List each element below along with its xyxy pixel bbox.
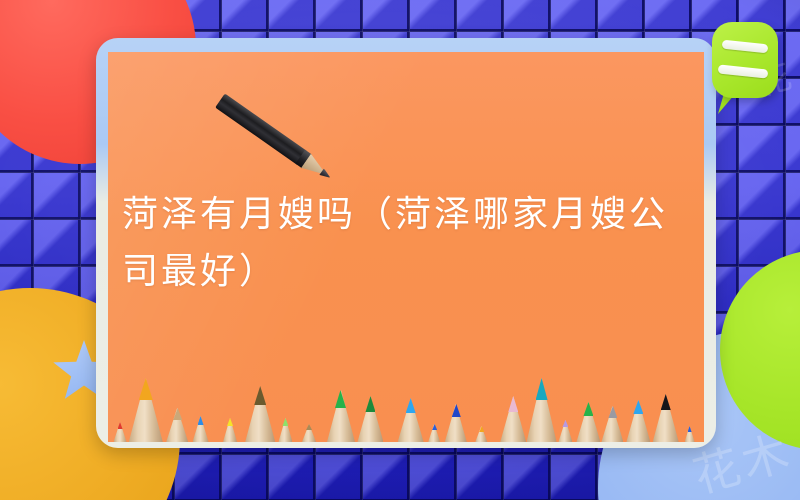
colored-pencil [357, 396, 383, 442]
colored-pencil [601, 406, 623, 442]
colored-pencil [428, 424, 440, 442]
pencil-colored-lead [536, 378, 548, 400]
screenshot-canvas: 花 花木 菏泽有月嫂吗（菏泽哪家月嫂公司最好） [0, 0, 800, 500]
colored-pencil [302, 424, 316, 442]
colored-pencil [558, 420, 572, 442]
colored-pencil-row [108, 368, 704, 442]
pencil-colored-lead [118, 422, 123, 429]
pencil-colored-lead [608, 406, 617, 418]
colored-pencil [527, 378, 557, 442]
colored-pencil [166, 408, 188, 442]
pencil-colored-lead [198, 416, 204, 425]
speech-bubble-icon [712, 22, 778, 98]
pencil-colored-lead [282, 418, 288, 426]
pencil-colored-lead [306, 424, 312, 430]
pencil-colored-lead [173, 408, 182, 420]
pencil-colored-lead [661, 394, 671, 410]
pencil-colored-lead [452, 404, 461, 417]
colored-pencil [685, 426, 695, 442]
pencil-colored-lead [406, 398, 416, 413]
pencil-colored-lead [688, 426, 692, 432]
colored-pencil [223, 418, 237, 442]
pencil-colored-lead [227, 418, 233, 426]
colored-pencil [626, 400, 650, 442]
colored-pencil [327, 390, 355, 442]
pencil-colored-lead [508, 396, 518, 412]
colored-pencil [576, 402, 600, 442]
colored-pencil [278, 418, 292, 442]
page-title: 菏泽有月嫂吗（菏泽哪家月嫂公司最好） [122, 186, 702, 300]
colored-pencil [475, 426, 487, 442]
colored-pencil [398, 398, 424, 442]
pencil-colored-lead [583, 402, 593, 416]
colored-pencil [500, 396, 526, 442]
colored-pencil [129, 378, 163, 442]
colored-pencil [445, 404, 467, 442]
pencil-colored-lead [633, 400, 643, 414]
pencil-colored-lead [254, 386, 266, 405]
pencil-colored-lead [335, 390, 346, 408]
colored-pencil [245, 386, 275, 442]
colored-pencil [114, 422, 127, 442]
pencil-colored-lead [139, 378, 153, 400]
pencil-colored-lead [562, 420, 568, 427]
colored-pencil [653, 394, 679, 442]
pencil-colored-lead [479, 426, 484, 432]
pencil-colored-lead [432, 424, 437, 430]
colored-pencil [193, 416, 209, 442]
pencil-colored-lead [365, 396, 375, 412]
